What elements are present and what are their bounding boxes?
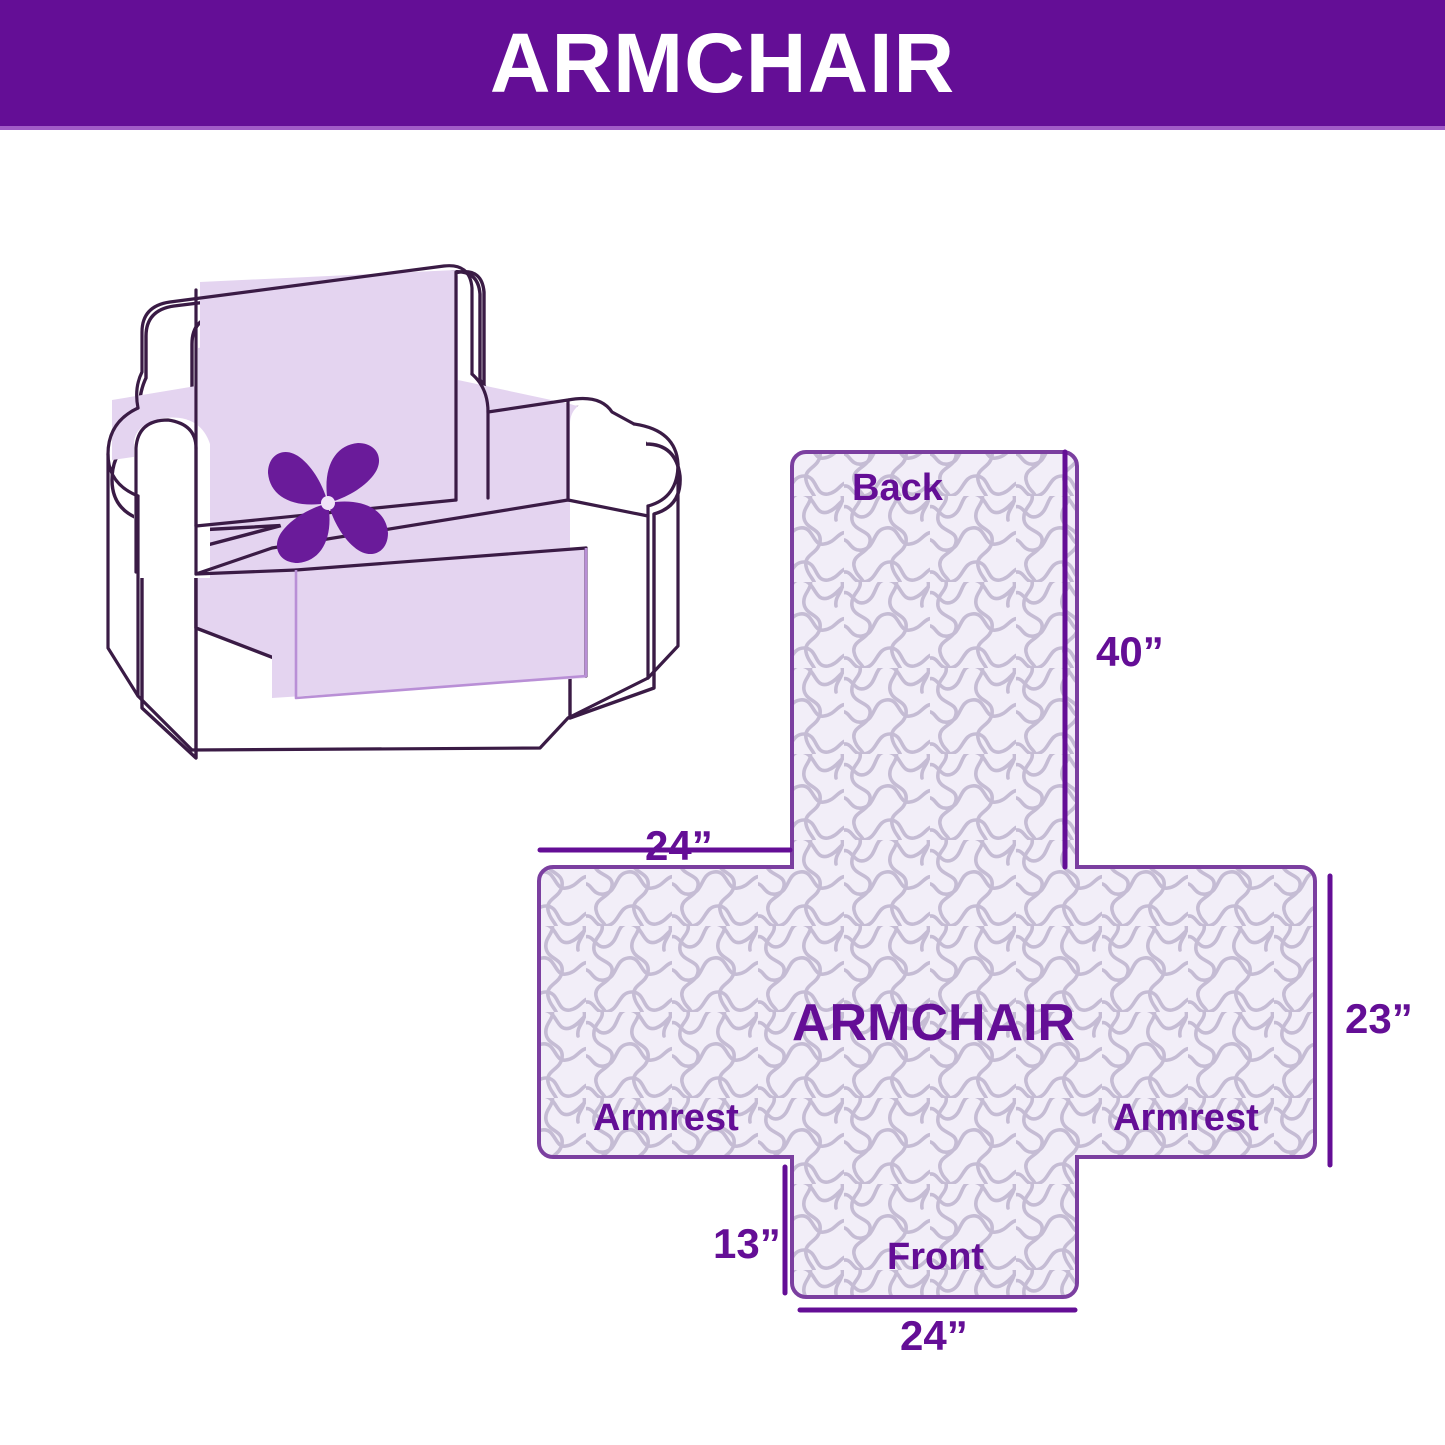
header-underline: [0, 126, 1445, 130]
dimension-label-40in: 40”: [1096, 628, 1164, 676]
panel-label-armchair: ARMCHAIR: [792, 993, 1075, 1053]
panel-label-armrest-right: Armrest: [1113, 1097, 1259, 1140]
panel-label-front: Front: [887, 1236, 984, 1279]
panel-label-armrest-left: Armrest: [593, 1097, 739, 1140]
header-bar: ARMCHAIR: [0, 0, 1445, 126]
dimension-label-24in-top: 24”: [645, 822, 713, 870]
slipcover-layout-diagram: Back ARMCHAIR Armrest Armrest Front 40” …: [500, 410, 1445, 1410]
chair-left-arm-roll: [134, 418, 210, 578]
fan-hub-icon: [321, 496, 335, 510]
page-root: ARMCHAIR: [0, 0, 1445, 1445]
dimension-label-24in-bottom: 24”: [900, 1312, 968, 1360]
dimension-label-23in: 23”: [1345, 995, 1413, 1043]
page-title: ARMCHAIR: [490, 21, 955, 105]
cross-outline: [539, 452, 1315, 1297]
chair-outline-left-front-edge: [108, 454, 138, 696]
panel-label-back: Back: [852, 467, 943, 510]
cross-shape-body: [539, 452, 1315, 1297]
dimension-label-13in: 13”: [713, 1220, 781, 1268]
